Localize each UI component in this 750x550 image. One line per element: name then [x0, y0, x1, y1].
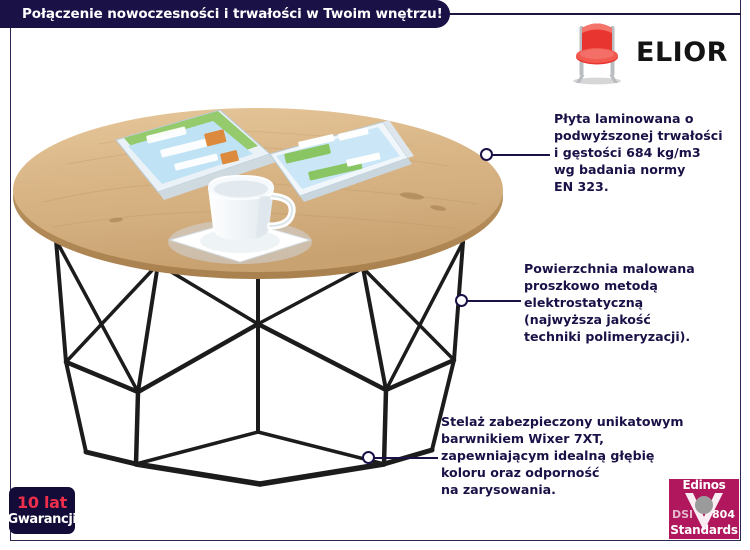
red-chair-icon	[566, 17, 628, 87]
warranty-badge: 10 lat Gwarancji	[9, 487, 75, 534]
edinos-standards-label: Standards	[669, 523, 739, 537]
warranty-years: 10 lat	[17, 495, 67, 511]
infographic-page: Połączenie nowoczesności i trwałości w T…	[0, 0, 750, 550]
header-banner: Połączenie nowoczesności i trwałości w T…	[0, 0, 450, 28]
callout-text-frame: Stelaż zabezpieczony unikatowym barwniki…	[441, 413, 691, 498]
edinos-standards-badge: Edinos DSI 804 Standards	[669, 479, 739, 539]
warranty-label: Gwarancji	[8, 513, 77, 526]
callout-leader-frame	[374, 457, 438, 459]
callout-text-coating: Powierzchnia malowana proszkowo metodą e…	[524, 260, 739, 345]
header-title: Połączenie nowoczesności i trwałości w T…	[0, 6, 443, 22]
frame-top-rule	[440, 13, 741, 15]
brand-logo: ELIOR	[566, 16, 736, 88]
callout-leader-coating	[467, 300, 521, 302]
callout-leader-laminate	[492, 154, 550, 156]
frame-right-rule	[740, 0, 741, 540]
edinos-number: 804	[712, 508, 735, 521]
frame-bottom-rule	[10, 540, 741, 541]
edinos-dsi-label: DSI	[672, 508, 693, 521]
brand-name: ELIOR	[636, 39, 728, 66]
callout-text-laminate: Płyta laminowana o podwyższonej trwałośc…	[554, 110, 744, 195]
